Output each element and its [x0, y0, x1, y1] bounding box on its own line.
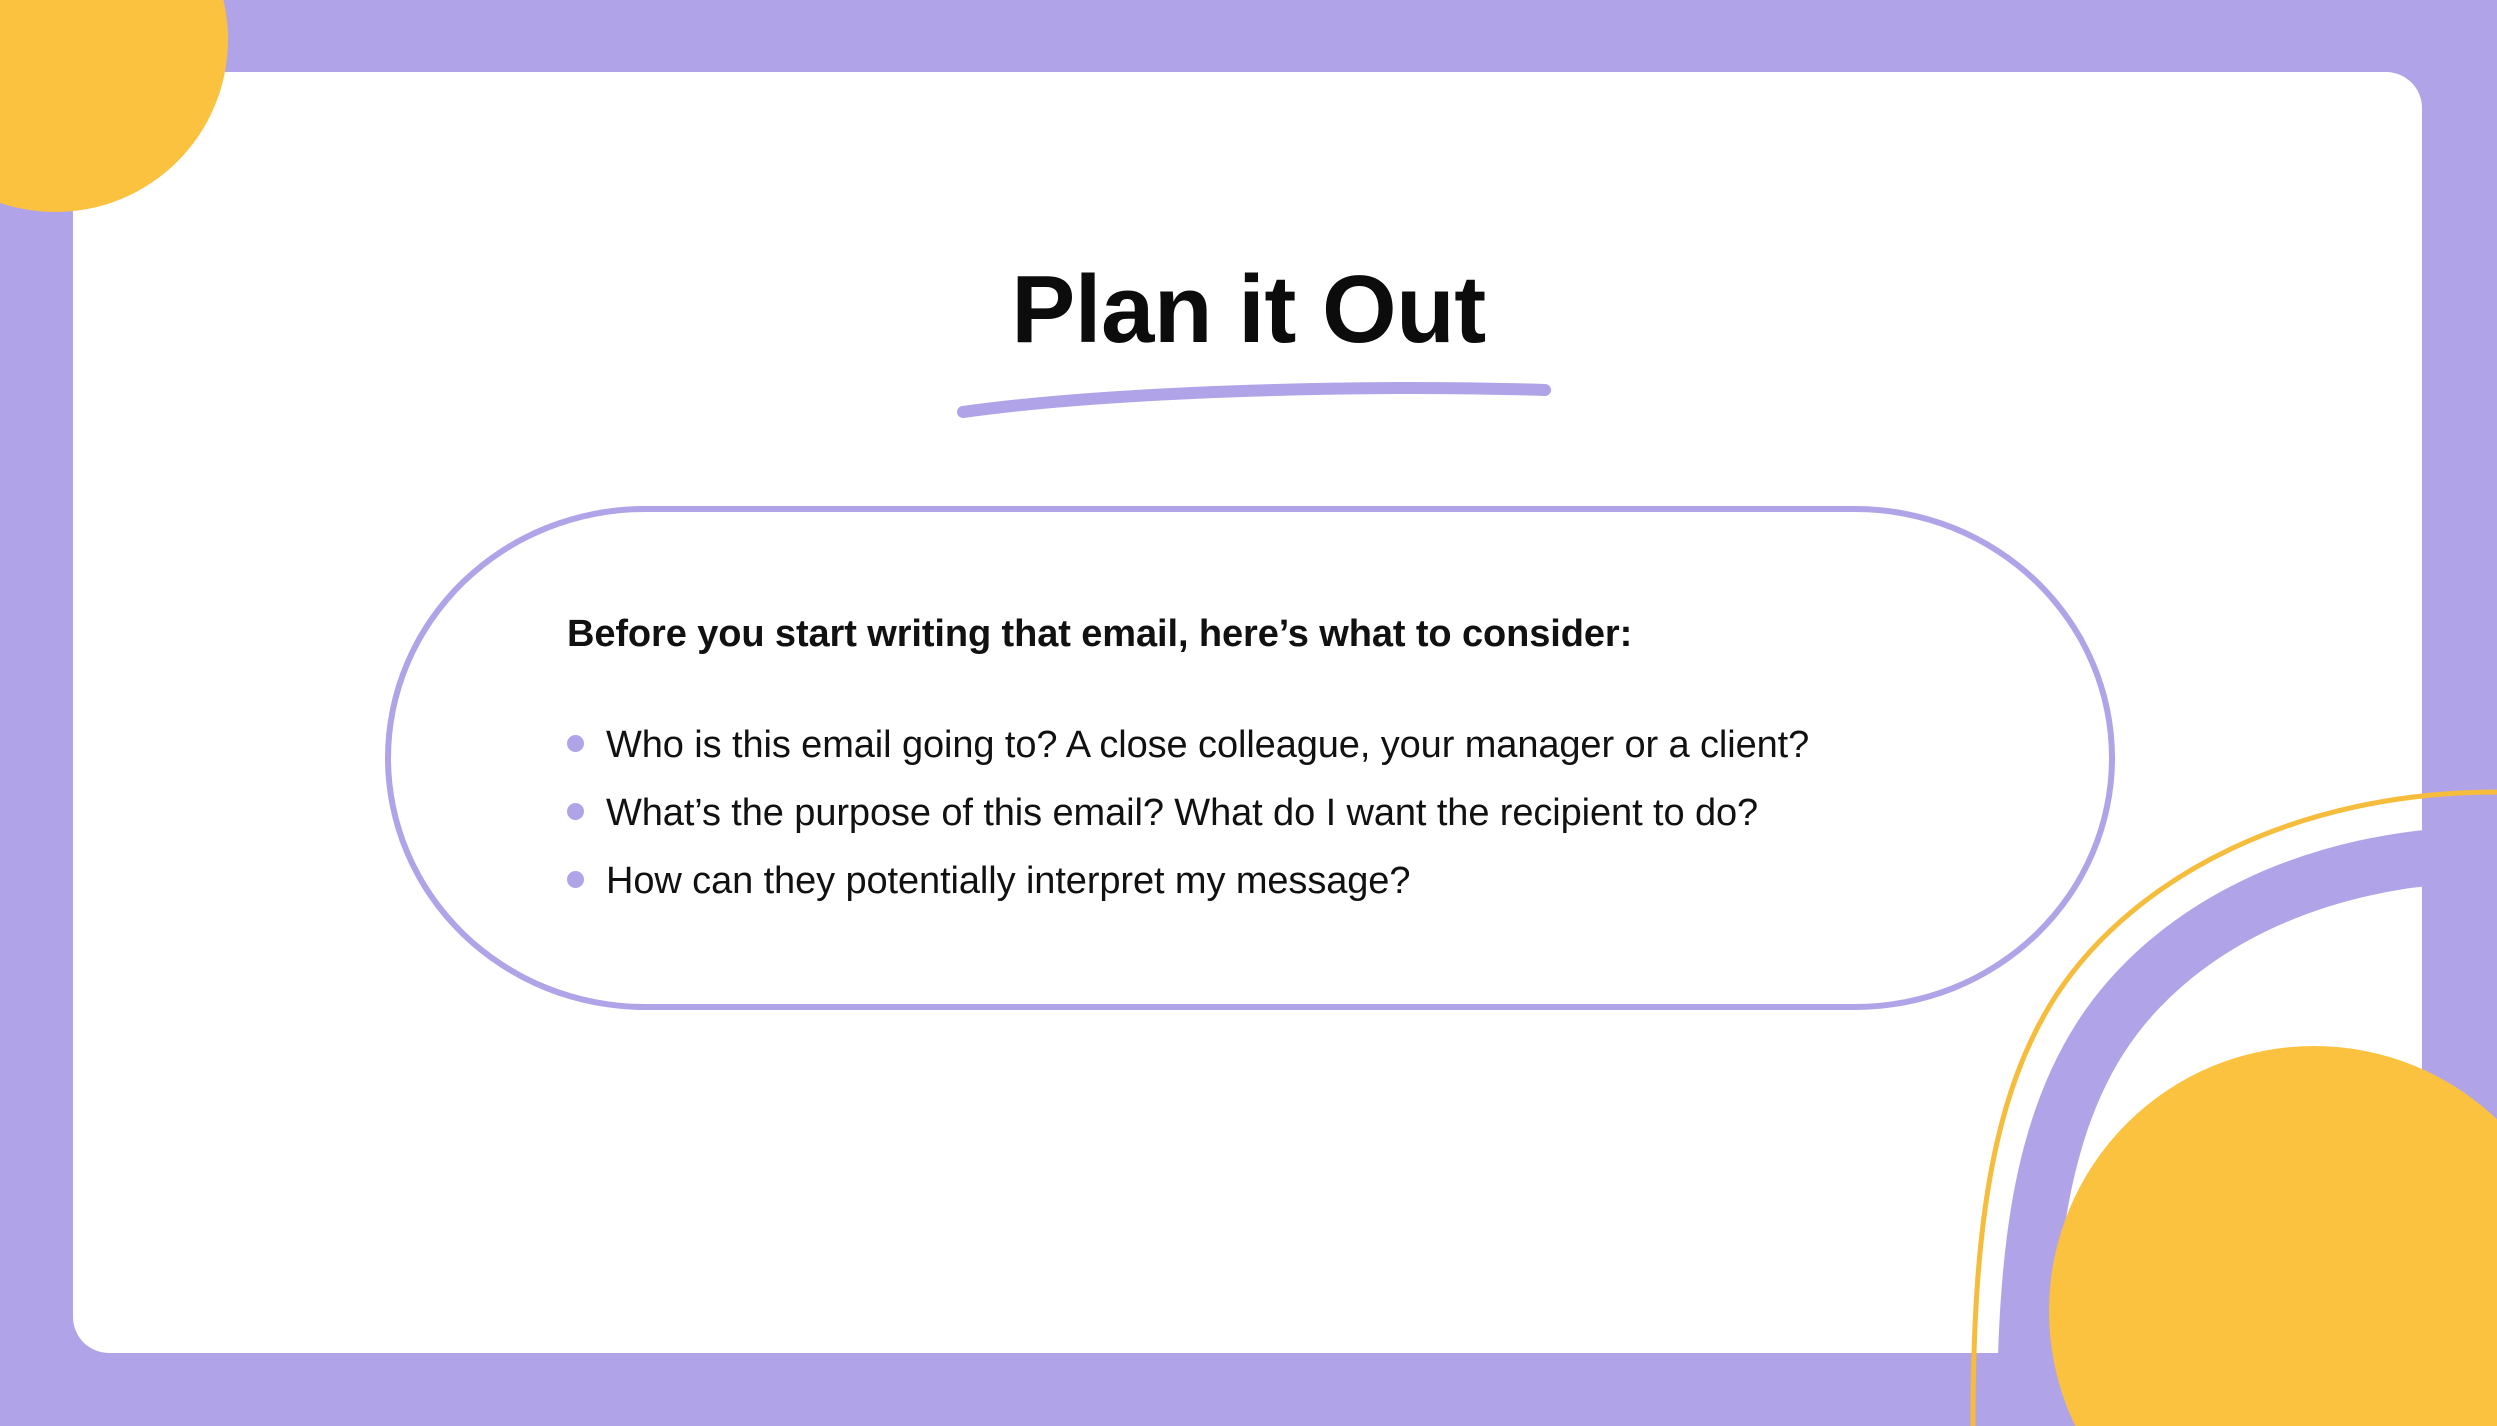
page-title: Plan it Out: [0, 262, 2497, 358]
content-pill-box: Before you start writing that email, her…: [385, 506, 2115, 1010]
bullet-dot-icon: [567, 871, 584, 888]
list-item-label: How can they potentially interpret my me…: [606, 857, 1410, 906]
list-item-label: What’s the purpose of this email? What d…: [606, 789, 1758, 838]
bullet-dot-icon: [567, 803, 584, 820]
consider-heading: Before you start writing that email, her…: [567, 610, 1989, 659]
list-item: How can they potentially interpret my me…: [567, 857, 1989, 906]
list-item: What’s the purpose of this email? What d…: [567, 789, 1989, 838]
slide-body: Plan it Out Before you start writing tha…: [0, 0, 2497, 1426]
bullet-dot-icon: [567, 735, 584, 752]
page-title-wrapper: Plan it Out: [0, 262, 2497, 358]
consideration-list: Who is this email going to? A close coll…: [567, 721, 1989, 905]
slide: Plan it Out Before you start writing tha…: [0, 0, 2497, 1426]
list-item: Who is this email going to? A close coll…: [567, 721, 1989, 770]
list-item-label: Who is this email going to? A close coll…: [606, 721, 1809, 770]
title-underline-swoosh: [955, 374, 1555, 420]
content-pill-inner: Before you start writing that email, her…: [567, 610, 1989, 905]
